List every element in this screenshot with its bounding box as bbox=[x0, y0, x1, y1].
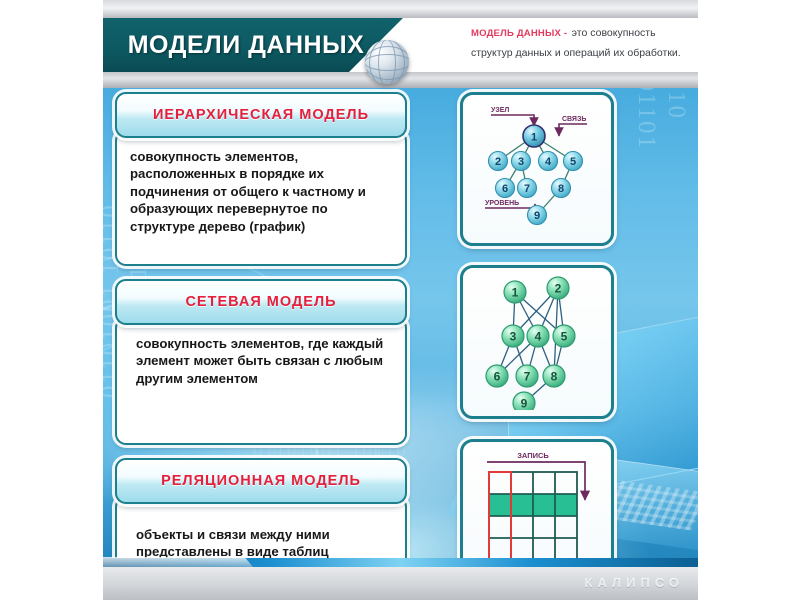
card-text-network: совокупность элементов, где каждый элеме… bbox=[130, 335, 392, 387]
header-definition: МОДЕЛЬ ДАННЫХ - это совокупность структу… bbox=[471, 22, 686, 61]
card-text-hierarchical: совокупность элементов, расположенных в … bbox=[130, 148, 392, 235]
tree-node-4: 4 bbox=[545, 156, 552, 168]
page-title: МОДЕЛИ ДАННЫХ bbox=[103, 18, 389, 72]
card-body-hierarchical: совокупность элементов, расположенных в … bbox=[115, 130, 407, 266]
model-cards-column: ИЕРАРХИЧЕСКАЯ МОДЕЛЬ совокупность элемен… bbox=[115, 92, 407, 600]
tree-label-node: УЗЕЛ bbox=[491, 107, 509, 114]
network-node-6: 6 bbox=[494, 370, 501, 384]
network-node-4: 4 bbox=[535, 330, 542, 344]
diagrams-column: 1 2 3 4 5 6 7 8 9 УЗЕЛ СВЯЗЬ УРОВЕНЬ bbox=[460, 92, 608, 600]
hierarchical-tree-diagram: 1 2 3 4 5 6 7 8 9 УЗЕЛ СВЯЗЬ УРОВЕНЬ bbox=[460, 92, 614, 246]
poster-footer: КАЛИПСО bbox=[103, 558, 698, 600]
watermark: КАЛИПСО bbox=[585, 575, 684, 590]
tree-node-8: 8 bbox=[558, 183, 564, 195]
tree-node-6: 6 bbox=[502, 183, 508, 195]
tree-svg: 1 2 3 4 5 6 7 8 9 УЗЕЛ СВЯЗЬ УРОВЕНЬ bbox=[463, 95, 605, 237]
tree-node-1: 1 bbox=[531, 132, 537, 144]
network-node-8: 8 bbox=[551, 370, 558, 384]
header-top-strip bbox=[103, 0, 698, 18]
footer-bevel bbox=[103, 557, 253, 567]
tree-label-level: УРОВЕНЬ bbox=[485, 200, 519, 207]
network-node-9: 9 bbox=[521, 397, 528, 411]
tree-node-9: 9 bbox=[534, 210, 540, 222]
network-node-1: 1 bbox=[512, 286, 519, 300]
table-label-record: ЗАПИСЬ bbox=[517, 451, 549, 460]
card-network-model: СЕТЕВАЯ МОДЕЛЬ совокупность элементов, г… bbox=[115, 279, 407, 445]
poster-header: МОДЕЛИ ДАННЫХ МОДЕЛЬ ДАННЫХ - это совоку… bbox=[103, 0, 698, 88]
card-title-hierarchical-label: ИЕРАРХИЧЕСКАЯ МОДЕЛЬ bbox=[153, 107, 369, 123]
poster: 01101001 10110 10010110 01101 01101001 1… bbox=[103, 0, 698, 600]
poster-content: ИЕРАРХИЧЕСКАЯ МОДЕЛЬ совокупность элемен… bbox=[103, 88, 698, 558]
definition-term: МОДЕЛЬ ДАННЫХ - bbox=[471, 28, 567, 39]
tree-node-3: 3 bbox=[518, 156, 524, 168]
card-text-relational: объекты и связи между ними представлены … bbox=[130, 514, 392, 561]
card-body-network: совокупность элементов, где каждый элеме… bbox=[115, 317, 407, 445]
tree-node-7: 7 bbox=[524, 183, 530, 195]
card-title-relational: РЕЛЯЦИОННАЯ МОДЕЛЬ bbox=[115, 458, 407, 504]
network-node-7: 7 bbox=[524, 370, 531, 384]
card-title-network: СЕТЕВАЯ МОДЕЛЬ bbox=[115, 279, 407, 325]
tree-node-2: 2 bbox=[495, 156, 501, 168]
network-svg: 1 2 3 4 5 6 7 8 9 bbox=[463, 268, 605, 410]
network-graph-diagram: 1 2 3 4 5 6 7 8 9 bbox=[460, 265, 614, 419]
network-node-3: 3 bbox=[510, 330, 517, 344]
network-node-2: 2 bbox=[555, 282, 562, 296]
card-title-network-label: СЕТЕВАЯ МОДЕЛЬ bbox=[185, 294, 336, 310]
header-body: МОДЕЛИ ДАННЫХ МОДЕЛЬ ДАННЫХ - это совоку… bbox=[103, 18, 698, 72]
network-node-5: 5 bbox=[561, 330, 568, 344]
card-title-relational-label: РЕЛЯЦИОННАЯ МОДЕЛЬ bbox=[161, 473, 361, 489]
globe-icon bbox=[365, 40, 409, 84]
card-hierarchical-model: ИЕРАРХИЧЕСКАЯ МОДЕЛЬ совокупность элемен… bbox=[115, 92, 407, 266]
tree-label-link: СВЯЗЬ bbox=[562, 116, 586, 123]
tree-node-5: 5 bbox=[570, 156, 576, 168]
card-title-hierarchical: ИЕРАРХИЧЕСКАЯ МОДЕЛЬ bbox=[115, 92, 407, 138]
